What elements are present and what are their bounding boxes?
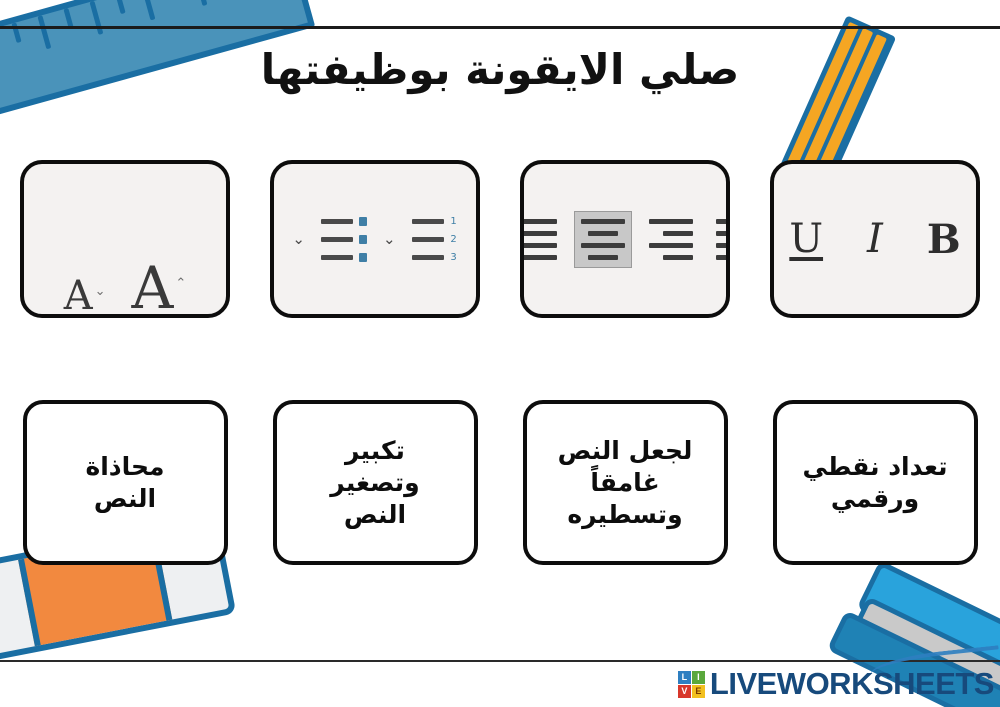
list-line: 1 bbox=[412, 217, 458, 226]
list-number: 2 bbox=[450, 235, 458, 244]
list-bar bbox=[321, 237, 353, 242]
page-title: صلي الايقونة بوظيفتها bbox=[0, 46, 1000, 94]
list-line bbox=[321, 235, 367, 244]
align-justify-glyph bbox=[710, 212, 730, 267]
ruler-tick bbox=[142, 0, 156, 20]
list-bar bbox=[321, 219, 353, 224]
label-slot-2: تكبيروتصغيرالنص bbox=[250, 400, 500, 570]
list-line: 2 bbox=[412, 235, 458, 244]
align-line bbox=[588, 255, 618, 260]
ruler-tick bbox=[194, 0, 208, 6]
caret-small-icon: ⌄ bbox=[95, 284, 106, 299]
align-line bbox=[649, 243, 693, 248]
align-line bbox=[520, 219, 557, 224]
align-left-glyph bbox=[520, 212, 563, 267]
badge-letter-v: V bbox=[678, 685, 691, 698]
brand-wordmark: LIVEWORKSHEETS bbox=[710, 666, 994, 702]
label-card-bold-underline[interactable]: لجعل النصغامقاًوتسطيره bbox=[523, 400, 728, 565]
icon-slot-1: A⌄ A⌃ bbox=[0, 160, 250, 320]
align-line bbox=[716, 243, 730, 248]
label-slot-4: تعداد نقطيورقمي bbox=[750, 400, 1000, 570]
icon-slot-2: ⌄ ⌄ 1 2 3 bbox=[250, 160, 500, 320]
align-line bbox=[588, 231, 618, 236]
icon-slot-3: ⌄ bbox=[500, 160, 750, 320]
small-a-glyph: A⌄ bbox=[64, 278, 106, 314]
lists-icon-card[interactable]: ⌄ ⌄ 1 2 3 bbox=[270, 160, 480, 318]
bold-italic-underline-icon: U I B bbox=[774, 164, 976, 314]
frame-top-line bbox=[0, 26, 1000, 29]
font-size-icon: A⌄ A⌃ bbox=[24, 164, 226, 314]
big-a-glyph: A⌃ bbox=[132, 262, 187, 314]
label-card-text: تكبيروتصغيرالنص bbox=[330, 435, 419, 531]
align-line bbox=[649, 219, 693, 224]
bullet-mark bbox=[359, 253, 367, 262]
label-slot-1: محاذاةالنص bbox=[0, 400, 250, 570]
italic-icon: I bbox=[867, 216, 883, 262]
align-line bbox=[581, 243, 625, 248]
worksheet-page: صلي الايقونة بوظيفتها A⌄ A⌃ ⌄ bbox=[0, 0, 1000, 707]
underline-icon: U bbox=[789, 216, 823, 262]
bulleted-list-glyph bbox=[321, 217, 367, 262]
list-bar bbox=[412, 237, 444, 242]
liveworksheets-logo[interactable]: L I V E LIVEWORKSHEETS bbox=[678, 666, 994, 702]
icon-slot-4: U I B bbox=[750, 160, 1000, 320]
align-line bbox=[520, 243, 557, 248]
label-card-text: لجعل النصغامقاًوتسطيره bbox=[558, 435, 693, 531]
ruler-tick bbox=[37, 15, 51, 49]
align-line bbox=[716, 231, 730, 236]
font-size-icon-card[interactable]: A⌄ A⌃ bbox=[20, 160, 230, 318]
list-bar bbox=[321, 255, 353, 260]
label-card-font-size[interactable]: تكبيروتصغيرالنص bbox=[273, 400, 478, 565]
list-line bbox=[321, 253, 367, 262]
align-line bbox=[520, 231, 557, 236]
align-center-glyph-selected bbox=[574, 211, 632, 268]
bullet-mark bbox=[359, 217, 367, 226]
label-card-text: محاذاةالنص bbox=[85, 451, 164, 515]
badge-letter-l: L bbox=[678, 671, 691, 684]
label-card-text: تعداد نقطيورقمي bbox=[802, 451, 947, 515]
badge-letter-e: E bbox=[692, 685, 705, 698]
list-number: 3 bbox=[450, 253, 458, 262]
badge-letter-i: I bbox=[692, 671, 705, 684]
style-icon-card[interactable]: U I B bbox=[770, 160, 980, 318]
alignment-icon-card[interactable]: ⌄ bbox=[520, 160, 730, 318]
chevron-down-icon-b: ⌄ bbox=[383, 230, 396, 248]
bold-icon: B bbox=[927, 216, 961, 263]
align-line bbox=[520, 255, 557, 260]
list-line: 3 bbox=[412, 253, 458, 262]
align-line bbox=[716, 255, 730, 260]
align-line bbox=[663, 231, 693, 236]
text-alignment-icon: ⌄ bbox=[524, 164, 726, 314]
label-slot-3: لجعل النصغامقاًوتسطيره bbox=[500, 400, 750, 570]
align-line bbox=[663, 255, 693, 260]
list-bar bbox=[412, 255, 444, 260]
bullet-mark bbox=[359, 235, 367, 244]
chevron-down-icon-a: ⌄ bbox=[292, 230, 305, 248]
label-card-alignment[interactable]: محاذاةالنص bbox=[23, 400, 228, 565]
align-line bbox=[716, 219, 730, 224]
label-card-row: محاذاةالنص تكبيروتصغيرالنص لجعل النصغامق… bbox=[0, 400, 1000, 570]
list-bar bbox=[412, 219, 444, 224]
bulleted-numbered-list-icon: ⌄ ⌄ 1 2 3 bbox=[274, 164, 476, 314]
icon-card-row: A⌄ A⌃ ⌄ ⌄ 1 2 3 bbox=[0, 160, 1000, 320]
align-line bbox=[581, 219, 625, 224]
label-card-lists[interactable]: تعداد نقطيورقمي bbox=[773, 400, 978, 565]
frame-bottom-line bbox=[0, 660, 1000, 662]
live-badge-icon: L I V E bbox=[678, 671, 705, 698]
list-line bbox=[321, 217, 367, 226]
numbered-list-glyph: 1 2 3 bbox=[412, 217, 458, 262]
align-right-glyph bbox=[643, 212, 699, 267]
ruler-tick bbox=[115, 0, 125, 14]
caret-big-icon: ⌃ bbox=[175, 276, 186, 291]
ruler-tick bbox=[89, 1, 103, 35]
list-number: 1 bbox=[450, 217, 458, 226]
